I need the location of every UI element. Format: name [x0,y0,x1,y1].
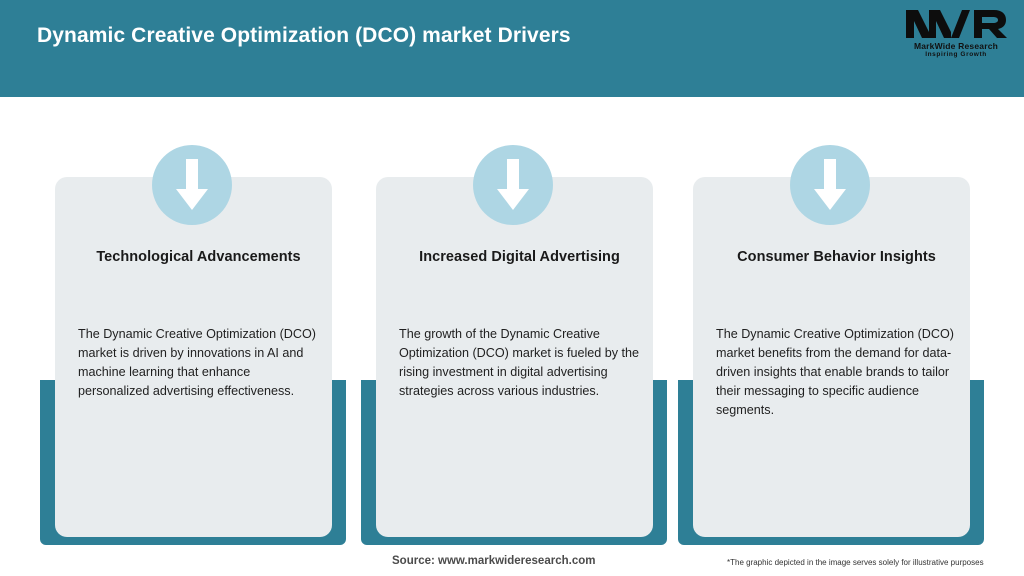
driver-card: Increased Digital Advertising The growth… [361,145,678,545]
card-title: Technological Advancements [60,249,337,265]
arrow-down-icon [152,145,232,225]
disclaimer-note: *The graphic depicted in the image serve… [727,558,984,567]
source-label: Source: www.markwideresearch.com [392,555,595,567]
arrow-down-icon [473,145,553,225]
driver-card-list: Technological Advancements The Dynamic C… [0,0,1024,576]
card-description: The growth of the Dynamic Creative Optim… [399,325,641,401]
driver-card: Consumer Behavior Insights The Dynamic C… [678,145,995,545]
arrow-down-icon [790,145,870,225]
card-description: The Dynamic Creative Optimization (DCO) … [78,325,320,401]
card-title: Consumer Behavior Insights [698,249,975,265]
card-description: The Dynamic Creative Optimization (DCO) … [716,325,958,420]
driver-card: Technological Advancements The Dynamic C… [40,145,357,545]
card-title: Increased Digital Advertising [381,249,658,265]
